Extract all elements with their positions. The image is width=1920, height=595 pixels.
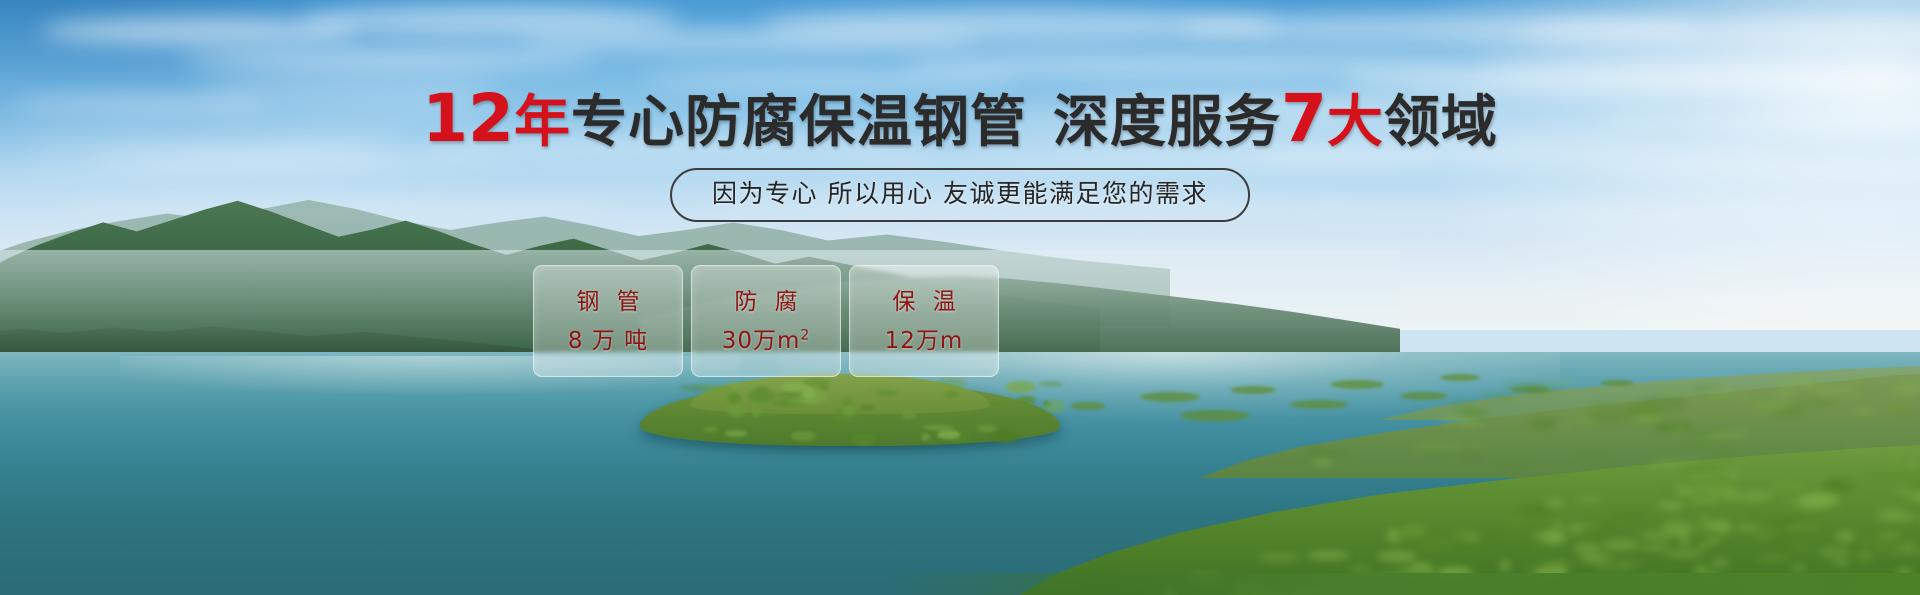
grass-tuft <box>1551 521 1564 531</box>
grass-tuft <box>1885 404 1907 410</box>
grass-tuft <box>1887 463 1898 471</box>
stat-card-value: 12万m <box>885 327 964 355</box>
grass-tuft <box>1503 383 1548 388</box>
island-tuft <box>1140 392 1200 402</box>
grass-tuft <box>1587 402 1629 410</box>
island-tuft <box>1070 402 1106 410</box>
island-tuft <box>787 399 809 404</box>
grass-tuft <box>1259 553 1300 560</box>
island-tuft <box>1290 400 1348 409</box>
island-tuft <box>842 406 855 416</box>
grass-tuft <box>1459 444 1489 448</box>
subtitle-pill: 因为专心 所以用心 友诚更能满足您的需求 <box>670 168 1250 222</box>
grass-tuft <box>1891 385 1920 394</box>
grass-tuft <box>1484 529 1501 541</box>
island-tuft <box>937 430 960 438</box>
island-tuft <box>1039 381 1063 387</box>
grass-tuft <box>1580 524 1621 539</box>
grass-tuft <box>1750 403 1794 410</box>
stat-card-group: 钢 管 8 万 吨 防 腐 30万m2 保 温 12万m <box>533 265 999 377</box>
grass-tuft <box>1877 508 1907 515</box>
headline-years-unit: 年 <box>514 90 571 155</box>
grass-tuft <box>1576 497 1602 503</box>
island-tuft <box>1044 400 1065 413</box>
headline-fields-number: 7 <box>1281 80 1327 157</box>
headline-years-number: 12 <box>422 80 514 157</box>
grass-tuft <box>1669 425 1686 432</box>
grass-tuft <box>1387 530 1406 541</box>
island-tuft <box>1330 380 1384 389</box>
grass-tuft <box>1756 556 1790 561</box>
grass-bottom-edge <box>0 573 1920 595</box>
island-tuft <box>727 404 747 417</box>
stat-card-insulation[interactable]: 保 温 12万m <box>849 265 999 377</box>
island-tuft <box>1440 374 1480 381</box>
island-tuft <box>703 427 718 433</box>
grass-tuft <box>1546 500 1564 506</box>
grass-tuft <box>1682 465 1722 475</box>
cloud-wisp <box>180 48 600 68</box>
stat-card-steel-pipe[interactable]: 钢 管 8 万 吨 <box>533 265 683 377</box>
grass-tuft <box>1533 532 1568 541</box>
stat-card-value-text: 8 万 吨 <box>568 328 648 354</box>
stat-card-value: 8 万 吨 <box>568 327 648 355</box>
island-tuft <box>752 406 759 416</box>
banner-headline: 12年专心防腐保温钢管深度服务7大领域 <box>0 88 1920 154</box>
island-tuft <box>791 431 816 442</box>
grass-tuft <box>1699 542 1707 549</box>
stat-card-label: 保 温 <box>887 287 960 317</box>
island-tuft <box>876 390 898 395</box>
grass-tuft <box>1737 491 1773 503</box>
grass-tuft <box>1899 413 1915 417</box>
grass-tuft <box>1506 542 1537 551</box>
island-tuft <box>1600 380 1634 386</box>
headline-main-text-1: 专心防腐保温钢管 <box>571 90 1027 155</box>
grass-tuft <box>1659 501 1682 509</box>
grass-tuft <box>1612 511 1647 520</box>
island-tuft <box>921 433 930 441</box>
grass-tuft <box>1414 538 1456 552</box>
stat-card-value-sup: 2 <box>800 327 810 343</box>
grass-tuft <box>1874 542 1906 555</box>
grass-tuft <box>1855 407 1872 416</box>
island-tuft <box>991 430 1019 443</box>
island-tuft <box>852 433 876 445</box>
grass-tuft <box>1874 502 1887 508</box>
stat-card-value-text: 30万m <box>722 328 801 354</box>
headline-main-text-3: 领域 <box>1384 90 1498 155</box>
grass-tuft <box>1894 470 1920 480</box>
stat-card-value: 30万m2 <box>722 327 811 355</box>
grass-tuft <box>1905 462 1919 466</box>
grass-tuft <box>1775 391 1796 398</box>
grass-tuft <box>1709 432 1749 436</box>
grass-tuft <box>1836 531 1855 542</box>
headline-main-text-2: 深度服务 <box>1053 90 1281 155</box>
headline-fields-unit: 大 <box>1327 90 1384 155</box>
grass-tuft <box>1699 476 1735 484</box>
stat-card-label: 防 腐 <box>729 287 802 317</box>
grass-tuft <box>1879 531 1902 539</box>
island-tuft <box>977 425 996 432</box>
stat-card-value-text: 12万m <box>885 328 964 354</box>
grass-tuft <box>1797 530 1834 535</box>
grass-tuft <box>1507 517 1525 524</box>
grass-tuft <box>1846 446 1865 452</box>
grass-tuft <box>1664 550 1704 557</box>
grass-tuft <box>1308 552 1349 558</box>
grass-tuft <box>1687 529 1723 543</box>
grass-tuft <box>1602 540 1640 550</box>
grass-tuft <box>1774 490 1798 501</box>
island-tuft <box>699 385 729 390</box>
island-tuft <box>748 389 776 403</box>
grass-tuft <box>1683 440 1717 448</box>
grass-tuft <box>1733 395 1752 400</box>
grass-tuft <box>1751 525 1777 540</box>
island-tuft <box>727 382 745 387</box>
grass-tuft <box>1500 560 1510 571</box>
hero-banner: 12年专心防腐保温钢管深度服务7大领域 因为专心 所以用心 友诚更能满足您的需求… <box>0 0 1920 595</box>
grass-tuft <box>1576 454 1609 459</box>
grass-tuft <box>1858 551 1873 561</box>
island-tuft <box>781 383 808 391</box>
grass-tuft <box>1849 378 1859 386</box>
island-tuft <box>1180 410 1250 421</box>
island-tuft <box>1400 392 1448 400</box>
island-tuft <box>1230 386 1276 394</box>
grass-tuft <box>1480 394 1518 399</box>
grass-tuft <box>1640 545 1668 550</box>
cloud-wisp <box>1300 204 1920 222</box>
island-tuft <box>922 425 954 430</box>
stat-card-label: 钢 管 <box>571 287 644 317</box>
grass-tuft <box>1818 546 1851 559</box>
stat-card-anticorrosion[interactable]: 防 腐 30万m2 <box>691 265 841 377</box>
grass-tuft <box>1280 458 1311 463</box>
grass-tuft <box>1789 545 1813 553</box>
grass-tuft <box>1461 455 1483 460</box>
grass-tuft <box>1447 400 1473 405</box>
grass-tuft <box>1712 557 1729 569</box>
grass-tuft <box>1574 542 1601 554</box>
